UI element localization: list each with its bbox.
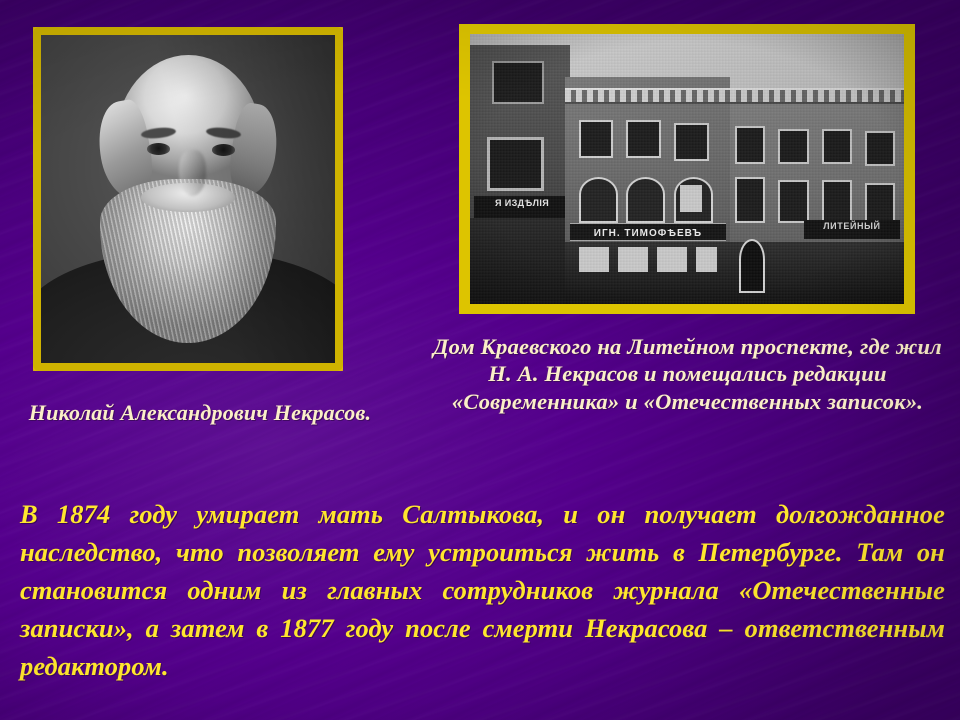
presentation-slide: Я ИЗДѢЛІЯ ИГН. ТИМОФѢЕВ — [0, 0, 960, 720]
building-photo-vignette — [470, 34, 904, 304]
portrait-photo-frame — [33, 27, 343, 371]
building-photo-frame: Я ИЗДѢЛІЯ ИГН. ТИМОФѢЕВ — [459, 24, 915, 314]
building-caption: Дом Краевского на Литейном проспекте, гд… — [420, 333, 955, 415]
portrait-caption: Николай Александрович Некрасов. — [10, 400, 390, 426]
building-photo-image: Я ИЗДѢЛІЯ ИГН. ТИМОФѢЕВ — [470, 34, 904, 304]
portrait-shading — [41, 35, 335, 363]
slide-body-paragraph: В 1874 году умирает мать Салтыкова, и он… — [20, 495, 945, 685]
portrait-photo-image — [41, 35, 335, 363]
